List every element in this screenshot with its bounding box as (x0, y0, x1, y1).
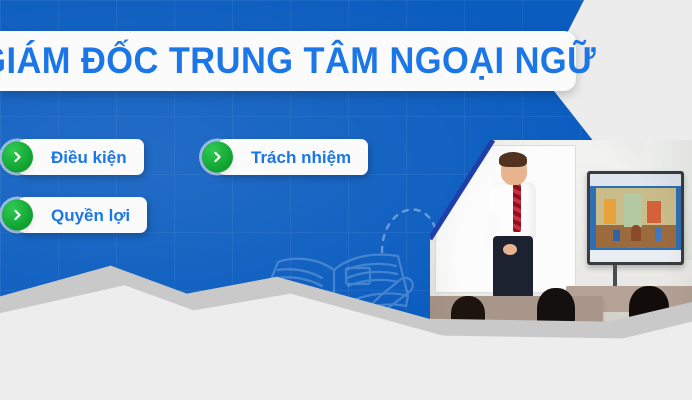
topic-button-label: Điều kiện (51, 149, 127, 166)
topic-button-dieu-kien[interactable]: Điều kiện (18, 139, 144, 175)
poster-canvas: GIÁM ĐỐC TRUNG TÂM NGOẠI NGỮ Điều kiện T… (0, 0, 692, 400)
topic-button-trach-nhiem[interactable]: Trách nhiệm (218, 139, 368, 175)
chevron-right-icon (2, 142, 33, 173)
chevron-right-icon (2, 200, 33, 231)
topic-button-quyen-loi[interactable]: Quyền lợi (18, 197, 147, 233)
topic-button-label: Quyền lợi (51, 207, 130, 224)
title-banner: GIÁM ĐỐC TRUNG TÂM NGOẠI NGỮ (0, 31, 576, 91)
chevron-right-icon (202, 142, 233, 173)
topic-button-label: Trách nhiệm (251, 149, 351, 166)
page-title: GIÁM ĐỐC TRUNG TÂM NGOẠI NGỮ (0, 42, 596, 81)
